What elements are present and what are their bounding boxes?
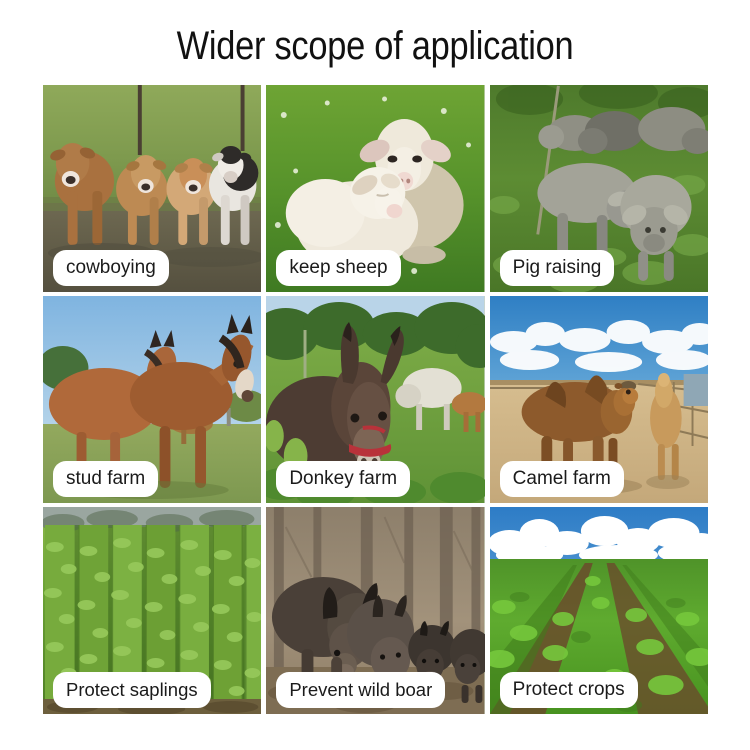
- scenario-label-stud-farm: stud farm: [53, 461, 158, 497]
- scenario-label-prevent-wild-boar: Prevent wild boar: [276, 672, 445, 708]
- scenario-cell-cowboying[interactable]: cowboying: [43, 85, 261, 292]
- scenario-cell-keep-sheep[interactable]: keep sheep: [266, 85, 484, 292]
- scenario-cell-prevent-wild-boar[interactable]: Prevent wild boar: [266, 507, 484, 714]
- scenario-label-protect-saplings: Protect saplings: [53, 672, 211, 708]
- scenario-label-cowboying: cowboying: [53, 250, 169, 286]
- scenario-cell-protect-saplings[interactable]: Protect saplings: [43, 507, 261, 714]
- scenario-cell-stud-farm[interactable]: stud farm: [43, 296, 261, 503]
- scenario-cell-protect-crops[interactable]: Protect crops: [490, 507, 708, 714]
- scenario-cell-camel-farm[interactable]: Camel farm: [490, 296, 708, 503]
- scenario-label-donkey-farm: Donkey farm: [276, 461, 410, 497]
- scenario-cell-donkey-farm[interactable]: Donkey farm: [266, 296, 484, 503]
- scenario-label-protect-crops: Protect crops: [500, 672, 638, 708]
- application-scenarios-grid: cowboying: [43, 85, 708, 714]
- scenario-label-keep-sheep: keep sheep: [276, 250, 400, 286]
- page-root: Wider scope of application: [0, 0, 750, 750]
- scenario-label-pig-raising: Pig raising: [500, 250, 615, 286]
- scenario-label-camel-farm: Camel farm: [500, 461, 624, 497]
- page-title: Wider scope of application: [53, 22, 698, 70]
- scenario-cell-pig-raising[interactable]: Pig raising: [490, 85, 708, 292]
